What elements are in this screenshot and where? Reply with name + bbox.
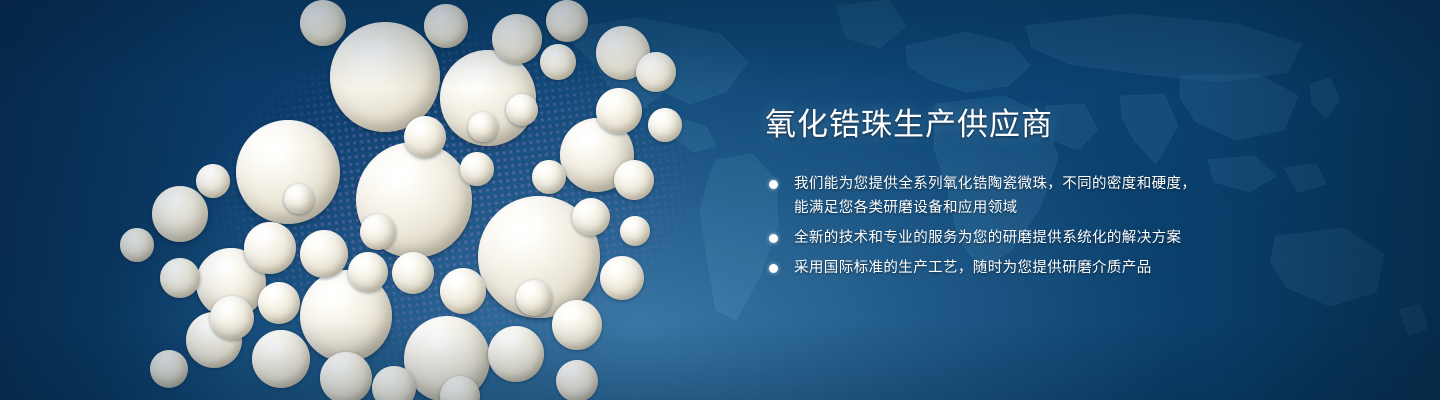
feature-list: 我们能为您提供全系列氧化锆陶瓷微珠，不同的密度和硬度， 能满足您各类研磨设备和应… bbox=[765, 172, 1385, 280]
list-item-line2: 能满足您各类研磨设备和应用领域 bbox=[794, 196, 1385, 220]
page-title: 氧化锆珠生产供应商 bbox=[765, 106, 1385, 145]
halftone-texture bbox=[34, 0, 846, 400]
banner-copy: 氧化锆珠生产供应商 我们能为您提供全系列氧化锆陶瓷微珠，不同的密度和硬度， 能满… bbox=[765, 106, 1385, 280]
bullet-dot-icon bbox=[769, 180, 778, 189]
list-item-line1: 全新的技术和专业的服务为您的研磨提供系统化的解决方案 bbox=[794, 230, 1181, 246]
hero-banner: 氧化锆珠生产供应商 我们能为您提供全系列氧化锆陶瓷微珠，不同的密度和硬度， 能满… bbox=[0, 0, 1440, 400]
zirconia-beads-image bbox=[0, 0, 760, 400]
list-item-line1: 我们能为您提供全系列氧化锆陶瓷微珠，不同的密度和硬度， bbox=[794, 176, 1196, 192]
list-item: 全新的技术和专业的服务为您的研磨提供系统化的解决方案 bbox=[765, 226, 1385, 250]
list-item-line1: 采用国际标准的生产工艺，随时为您提供研磨介质产品 bbox=[794, 260, 1152, 276]
bullet-dot-icon bbox=[769, 234, 778, 243]
list-item: 采用国际标准的生产工艺，随时为您提供研磨介质产品 bbox=[765, 256, 1385, 280]
list-item: 我们能为您提供全系列氧化锆陶瓷微珠，不同的密度和硬度， 能满足您各类研磨设备和应… bbox=[765, 172, 1385, 220]
bullet-dot-icon bbox=[769, 264, 778, 273]
